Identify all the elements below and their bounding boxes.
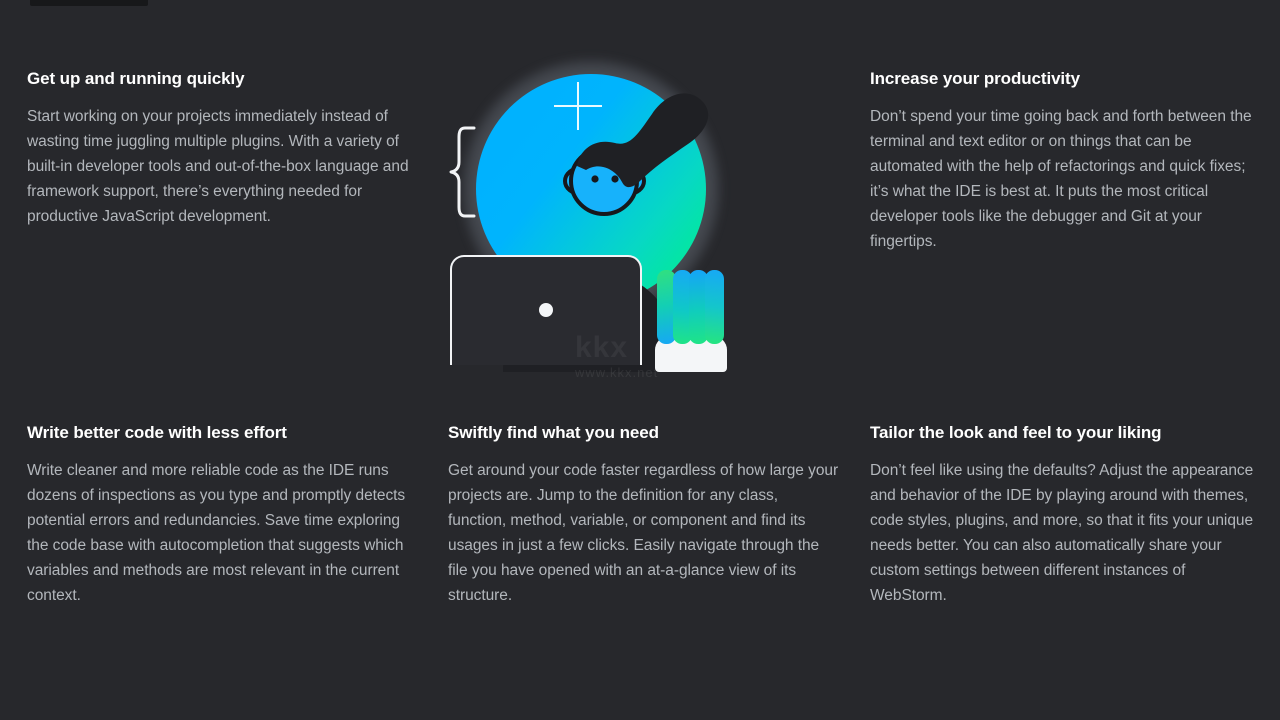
feature-body: Write cleaner and more reliable code as … <box>27 458 419 608</box>
feature-body: Don’t spend your time going back and for… <box>870 104 1262 254</box>
book-item <box>705 270 724 344</box>
laptop-icon <box>450 255 642 365</box>
laptop-logo-dot <box>539 303 553 317</box>
feature-body: Don’t feel like using the defaults? Adju… <box>870 458 1262 608</box>
feature-card-2: Write better code with less effort Write… <box>27 422 419 608</box>
feature-card-0: Get up and running quickly Start working… <box>27 68 419 229</box>
feature-title: Get up and running quickly <box>27 68 419 90</box>
feature-title: Swiftly find what you need <box>448 422 840 444</box>
feature-card-4: Tailor the look and feel to your liking … <box>870 422 1262 608</box>
feature-body: Get around your code faster regardless o… <box>448 458 840 608</box>
hero-illustration <box>440 48 740 372</box>
feature-card-1: Increase your productivity Don’t spend y… <box>870 68 1262 254</box>
feature-title: Write better code with less effort <box>27 422 419 444</box>
books-icon <box>657 270 725 372</box>
feature-body: Start working on your projects immediate… <box>27 104 419 229</box>
feature-card-3: Swiftly find what you need Get around yo… <box>448 422 840 608</box>
feature-title: Tailor the look and feel to your liking <box>870 422 1262 444</box>
feature-title: Increase your productivity <box>870 68 1262 90</box>
